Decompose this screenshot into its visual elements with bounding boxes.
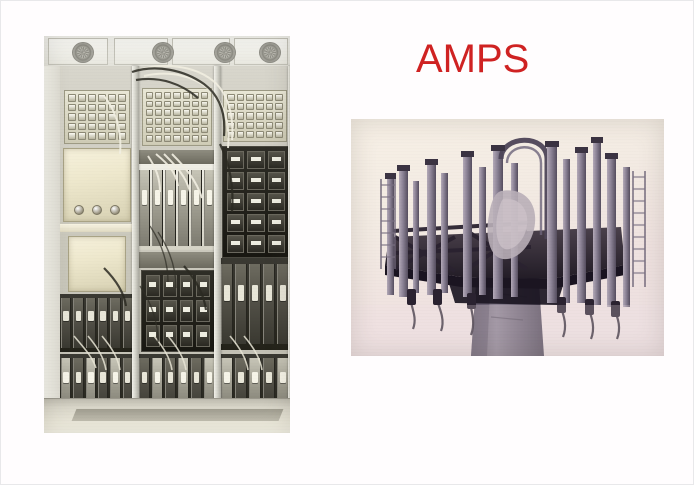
shelf-divider	[138, 150, 216, 164]
knob-icon	[74, 205, 84, 215]
side-wall	[44, 66, 61, 433]
knob-row	[69, 205, 124, 215]
fan-icon	[259, 42, 281, 63]
relay-panel	[141, 270, 215, 352]
terminal-grid	[68, 94, 126, 140]
fan-icon	[214, 42, 236, 63]
rack-rail	[214, 66, 221, 433]
plug-in-card-bank	[60, 298, 134, 348]
slide-canvas: AMPS	[0, 0, 694, 485]
equipment-photo-canvas	[44, 36, 290, 433]
fan-icon	[72, 42, 94, 63]
page-title: AMPS	[416, 39, 529, 79]
tower-photo-canvas	[351, 119, 664, 356]
shelf-divider	[60, 224, 134, 232]
relay-grid	[146, 275, 210, 347]
equipment-rack-bay-3	[220, 66, 290, 433]
power-unit	[68, 236, 126, 292]
equipment-rack-bay-1	[60, 66, 134, 433]
terminal-board	[64, 90, 130, 144]
rack-rail	[132, 66, 139, 433]
knob-icon	[110, 205, 120, 215]
relay-grid	[227, 151, 285, 253]
cell-tower-illustration	[351, 119, 664, 356]
shelf-divider	[138, 252, 216, 268]
amps-base-station-equipment-racks-photo	[44, 36, 290, 433]
rack-rail	[288, 66, 290, 433]
terminal-grid	[146, 92, 208, 142]
equipment-room-floor	[44, 398, 290, 433]
plug-in-card-bank	[138, 170, 216, 246]
relay-panel	[222, 146, 290, 258]
fan-icon	[152, 42, 174, 63]
transformer-box	[63, 148, 131, 222]
equipment-rack-bay-2	[138, 66, 216, 433]
terminal-board	[142, 88, 212, 146]
terminal-board	[223, 90, 287, 142]
plug-in-card-bank	[220, 264, 290, 344]
terminal-grid	[227, 94, 283, 138]
knob-icon	[92, 205, 102, 215]
amps-cell-site-antenna-tower-photo	[351, 119, 664, 356]
